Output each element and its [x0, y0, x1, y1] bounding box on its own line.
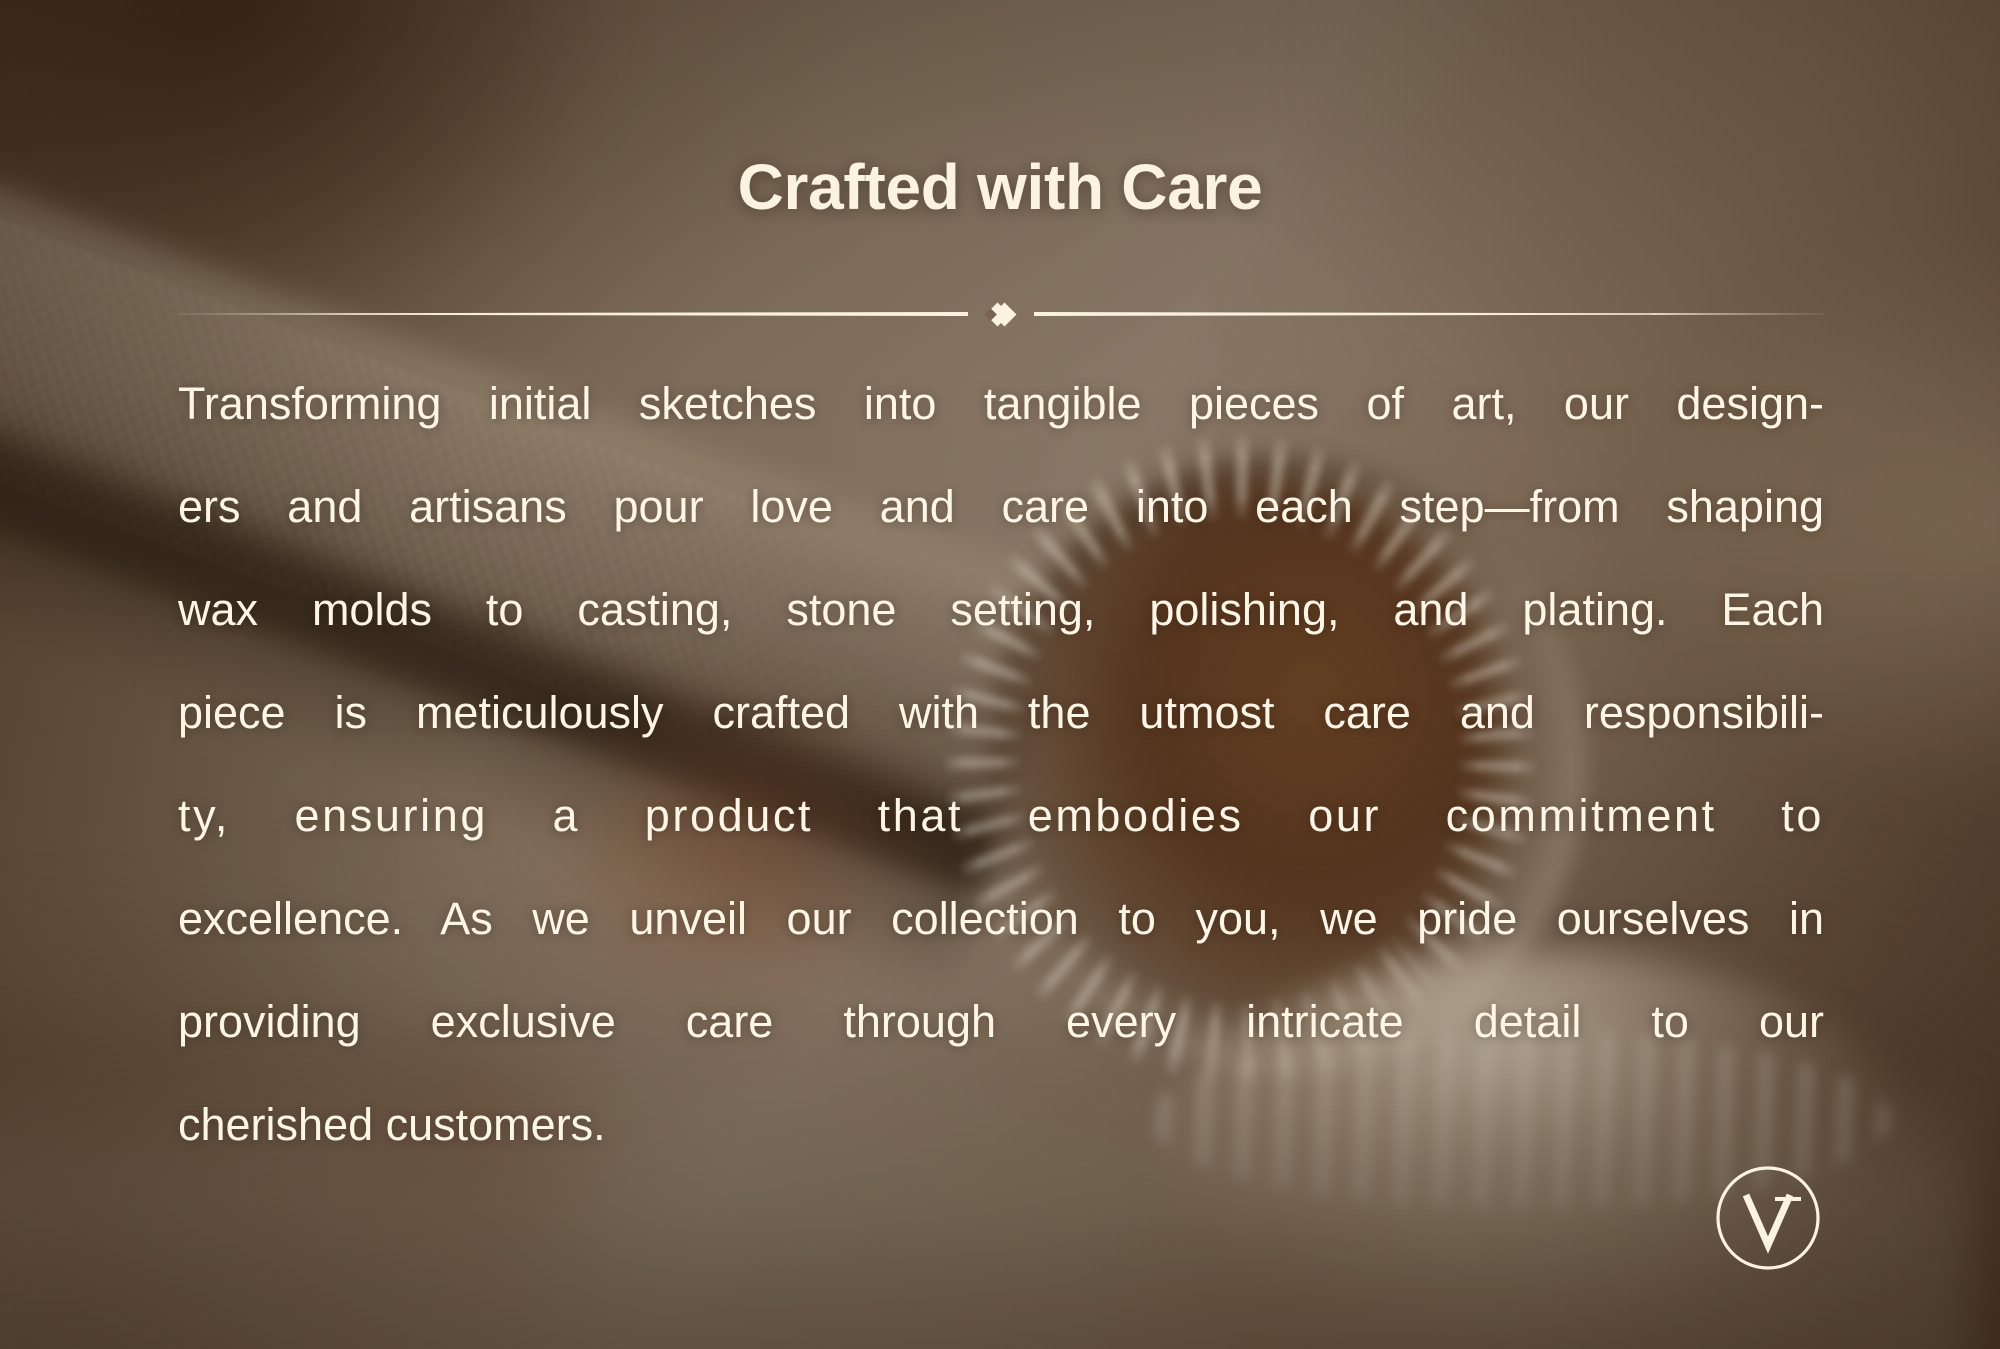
body-text: Transforming initial sketches into tangi…	[178, 352, 1824, 1176]
promo-banner: Crafted with Care Transforming initial s…	[0, 0, 2000, 1349]
ornamental-divider	[178, 295, 1824, 333]
body-line-text: excellence. As we unveil our collection …	[178, 867, 1824, 970]
body-line: ers and artisans pour love and care into…	[178, 455, 1824, 558]
body-line: ty, ensuring a product that embodies our…	[178, 764, 1824, 867]
body-line-text: cherished customers.	[178, 1099, 606, 1150]
page-title: Crafted with Care	[0, 150, 2000, 224]
divider-line-left	[178, 312, 968, 316]
body-line: excellence. As we unveil our collection …	[178, 867, 1824, 970]
body-line-text: piece is meticulously crafted with the u…	[178, 661, 1824, 764]
body-paragraph: Transforming initial sketches into tangi…	[178, 352, 1824, 1176]
body-line: piece is meticulously crafted with the u…	[178, 661, 1824, 764]
content-overlay: Crafted with Care Transforming initial s…	[0, 0, 2000, 1349]
body-line: providing exclusive care through every i…	[178, 970, 1824, 1073]
body-line: wax molds to casting, stone setting, pol…	[178, 558, 1824, 661]
body-line: Transforming initial sketches into tangi…	[178, 352, 1824, 455]
body-line-text: wax molds to casting, stone setting, pol…	[178, 558, 1824, 661]
body-line-text: ers and artisans pour love and care into…	[178, 455, 1824, 558]
body-line-text: providing exclusive care through every i…	[178, 970, 1824, 1073]
body-line-text: ty, ensuring a product that embodies our…	[178, 764, 1824, 867]
v-monogram-logo[interactable]	[1713, 1163, 1823, 1273]
double-diamond-ornament-icon	[972, 299, 1030, 329]
divider-line-right	[1034, 312, 1824, 316]
body-line-text: Transforming initial sketches into tangi…	[178, 352, 1824, 455]
body-line: cherished customers.	[178, 1073, 1824, 1176]
